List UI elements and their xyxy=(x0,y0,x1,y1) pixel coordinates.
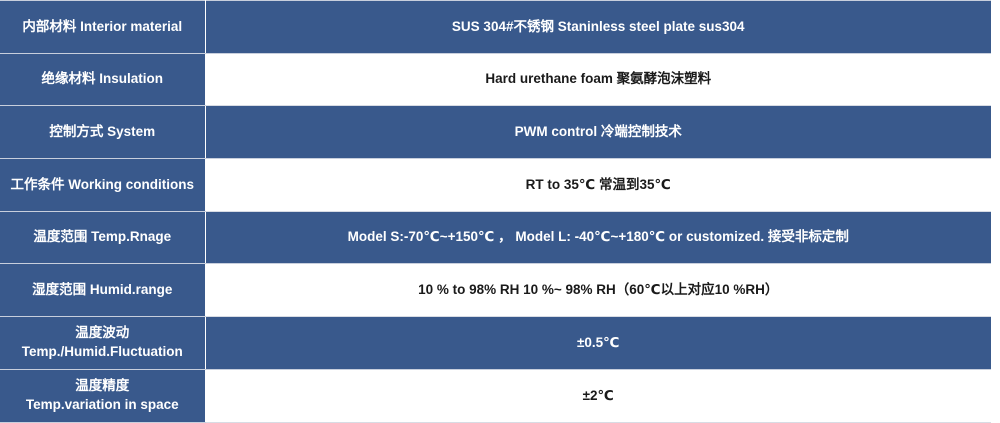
row-label-temp-humid-fluctuation: 温度波动Temp./Humid.Fluctuation xyxy=(0,317,205,370)
row-label-interior-material: 内部材料 Interior material xyxy=(0,1,205,54)
row-value-working-conditions: RT to 35℃ 常温到35℃ xyxy=(205,159,991,212)
row-label-line: 工作条件 Working conditions xyxy=(6,176,199,194)
table-row: 工作条件 Working conditionsRT to 35℃ 常温到35℃ xyxy=(0,159,991,212)
row-value-insulation: Hard urethane foam 聚氨酵泡沫塑料 xyxy=(205,53,991,106)
row-value-humidity-range: 10 % to 98% RH 10 %~ 98% RH（60℃以上对应10 %R… xyxy=(205,264,991,317)
table-row: 温度波动Temp./Humid.Fluctuation±0.5℃ xyxy=(0,317,991,370)
table-row: 温度范围 Temp.RnageModel S:-70℃~+150℃ ， Mode… xyxy=(0,211,991,264)
row-label-line: 湿度范围 Humid.range xyxy=(6,281,199,299)
row-label-system: 控制方式 System xyxy=(0,106,205,159)
row-label-line: Temp./Humid.Fluctuation xyxy=(6,343,199,361)
row-label-line: Temp.variation in space xyxy=(6,396,199,414)
row-label-line: 绝缘材料 Insulation xyxy=(6,70,199,88)
row-label-line: 温度精度 xyxy=(6,377,199,395)
row-value-temp-humid-fluctuation: ±0.5℃ xyxy=(205,317,991,370)
row-label-line: 温度范围 Temp.Rnage xyxy=(6,228,199,246)
row-value-temp-range: Model S:-70℃~+150℃ ， Model L: -40℃~+180℃… xyxy=(205,211,991,264)
row-label-line: 控制方式 System xyxy=(6,123,199,141)
table-row: 温度精度Temp.variation in space±2℃ xyxy=(0,369,991,422)
table-row: 绝缘材料 InsulationHard urethane foam 聚氨酵泡沫塑… xyxy=(0,53,991,106)
table-row: 内部材料 Interior materialSUS 304#不锈钢 Stanin… xyxy=(0,1,991,54)
row-label-humidity-range: 湿度范围 Humid.range xyxy=(0,264,205,317)
row-label-line: 温度波动 xyxy=(6,324,199,342)
row-label-working-conditions: 工作条件 Working conditions xyxy=(0,159,205,212)
row-value-interior-material: SUS 304#不锈钢 Staninless steel plate sus30… xyxy=(205,1,991,54)
table-row: 湿度范围 Humid.range10 % to 98% RH 10 %~ 98%… xyxy=(0,264,991,317)
row-label-line: 内部材料 Interior material xyxy=(6,18,199,36)
table-row: 控制方式 SystemPWM control 冷端控制技术 xyxy=(0,106,991,159)
row-value-temp-variation-in-space: ±2℃ xyxy=(205,369,991,422)
row-value-system: PWM control 冷端控制技术 xyxy=(205,106,991,159)
row-label-temp-range: 温度范围 Temp.Rnage xyxy=(0,211,205,264)
row-label-insulation: 绝缘材料 Insulation xyxy=(0,53,205,106)
row-label-temp-variation-in-space: 温度精度Temp.variation in space xyxy=(0,369,205,422)
specification-table: 内部材料 Interior materialSUS 304#不锈钢 Stanin… xyxy=(0,0,991,423)
specification-table-body: 内部材料 Interior materialSUS 304#不锈钢 Stanin… xyxy=(0,1,991,423)
